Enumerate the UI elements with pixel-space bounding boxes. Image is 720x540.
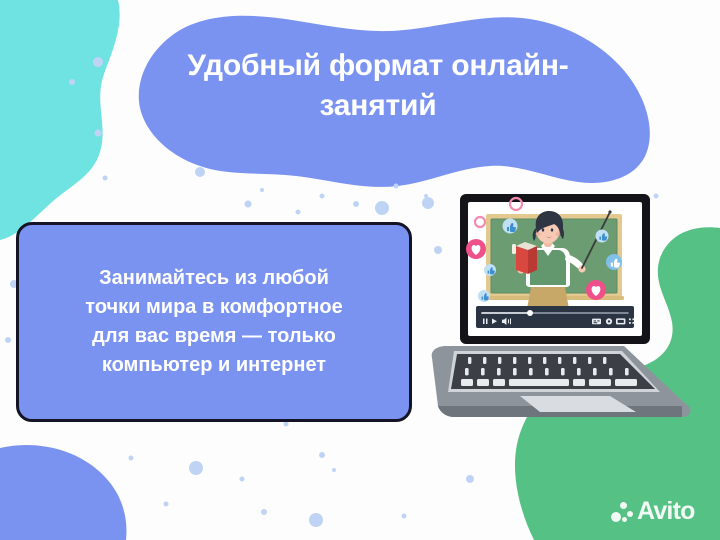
reaction-thumb-3 bbox=[478, 290, 490, 302]
avito-watermark: Avito bbox=[611, 499, 695, 524]
reaction-thumb-2 bbox=[484, 264, 496, 276]
reaction-thumb-1 bbox=[503, 219, 518, 234]
video-player-bar bbox=[476, 306, 634, 328]
laptop-base bbox=[432, 346, 691, 417]
laptop-illustration bbox=[424, 186, 692, 436]
video-frame bbox=[466, 198, 634, 328]
reaction-thumb-5 bbox=[606, 254, 622, 270]
settings-icon bbox=[606, 318, 612, 324]
avito-logo-icon bbox=[611, 501, 633, 523]
avito-wordmark: Avito bbox=[637, 499, 695, 524]
description-text: Занимайтесь из любой точки мира в комфор… bbox=[69, 264, 358, 381]
theater-icon bbox=[616, 318, 625, 324]
progress-scrubber bbox=[527, 310, 533, 316]
subtitles-icon bbox=[592, 319, 601, 325]
reaction-thumb-4 bbox=[596, 230, 609, 243]
reaction-heart-large-left bbox=[466, 239, 486, 259]
reaction-heart-large-right bbox=[586, 280, 606, 300]
laptop-screen bbox=[460, 194, 650, 344]
description-card: Занимайтесь из любой точки мира в комфор… bbox=[16, 222, 412, 422]
poster-title: Удобный формат онлайн- занятий bbox=[88, 46, 668, 126]
poster-canvas: Удобный формат онлайн- занятий Занимайте… bbox=[0, 0, 720, 540]
